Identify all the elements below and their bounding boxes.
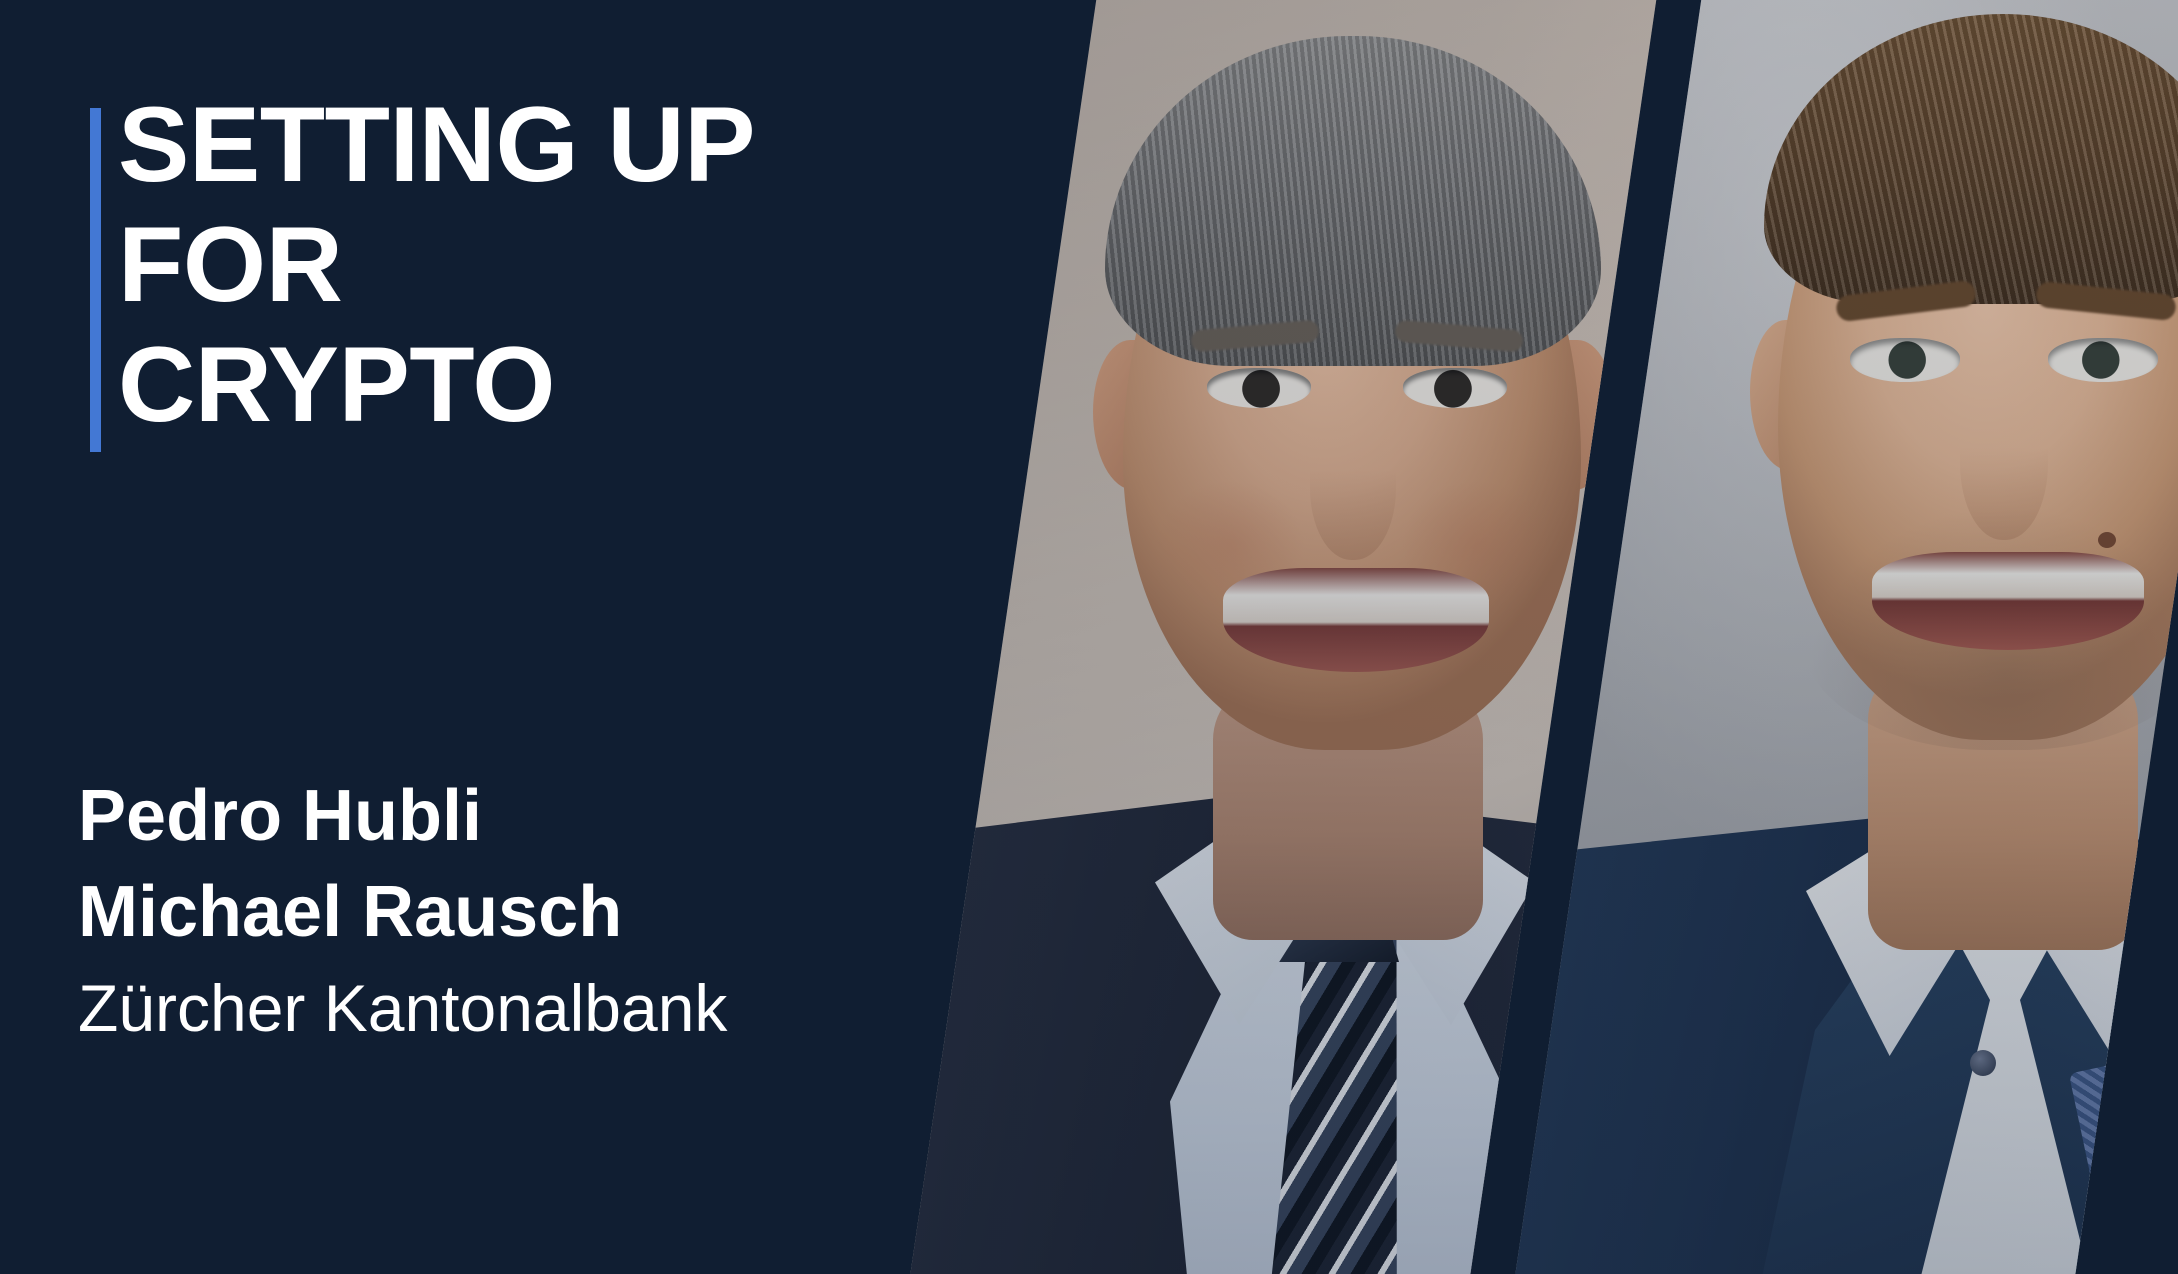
hair [1105, 36, 1601, 366]
organization-name: Zürcher Kantonalbank [78, 968, 727, 1048]
smiling-mouth [1872, 552, 2144, 650]
presentation-slide: SETTING UP FOR CRYPTO Pedro Hubli Michae… [0, 0, 2178, 1274]
text-column: SETTING UP FOR CRYPTO Pedro Hubli Michae… [0, 0, 1020, 1274]
speaker-name-1: Pedro Hubli [78, 768, 727, 864]
accent-bar [90, 108, 101, 452]
facial-mole [2098, 532, 2116, 548]
eye-right [1403, 368, 1507, 408]
nose [1310, 410, 1396, 560]
eye-left [1207, 368, 1311, 408]
eye-right [2048, 338, 2158, 382]
smiling-mouth [1223, 568, 1489, 672]
speaker-block: Pedro Hubli Michael Rausch Zürcher Kanto… [78, 768, 727, 1048]
page-title: SETTING UP FOR CRYPTO [118, 84, 755, 444]
speaker-name-2: Michael Rausch [78, 864, 727, 960]
shirt-button [1970, 1050, 1996, 1076]
hair [1764, 14, 2178, 304]
eye-left [1850, 338, 1960, 382]
